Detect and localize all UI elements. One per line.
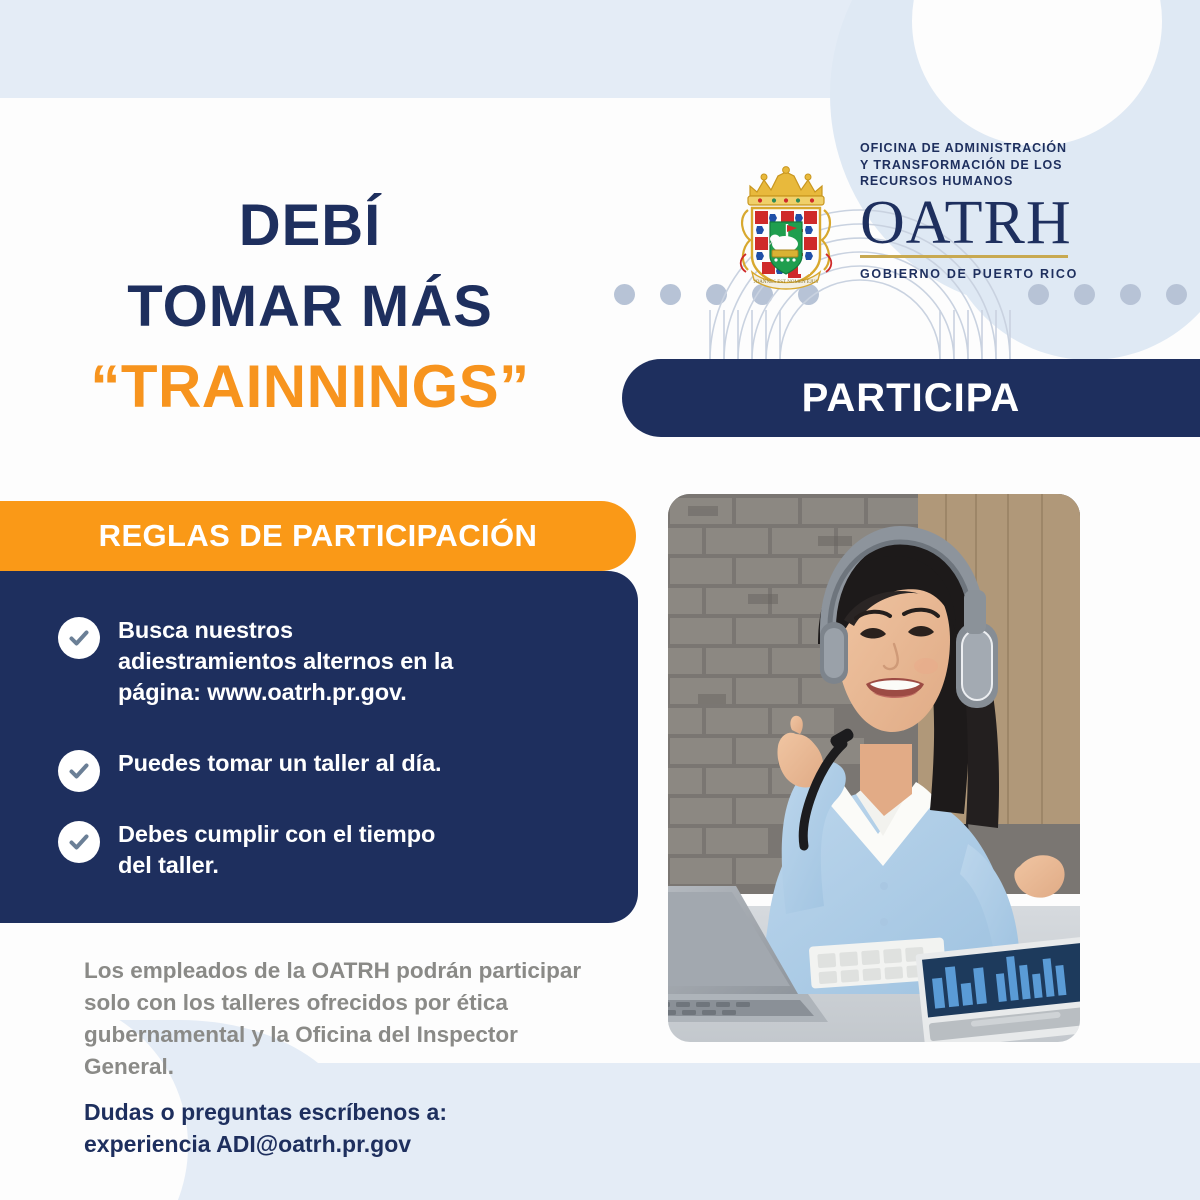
logo-subtitle: OFICINA DE ADMINISTRACIÓN Y TRANSFORMACI… xyxy=(860,140,1120,190)
check-icon xyxy=(67,830,91,854)
photo-illustration xyxy=(668,494,1080,1042)
logo-acronym: OATRH xyxy=(860,194,1120,254)
disclaimer-text: Los empleados de la OATRH podrán partici… xyxy=(84,955,644,1083)
participa-button[interactable]: PARTICIPA xyxy=(622,359,1200,437)
dot xyxy=(1166,284,1187,305)
oatrh-logo: JOANNES EST NOMEN EJUS OFICINA DE ADMINI… xyxy=(700,140,1120,330)
check-circle-icon xyxy=(58,617,100,659)
headline-line-1: DEBÍ xyxy=(0,196,620,255)
check-circle-icon xyxy=(58,821,100,863)
rule-item-text: Busca nuestros adiestramientos alternos … xyxy=(118,617,453,705)
headline-line-3: “TRAINNINGS” xyxy=(0,356,620,417)
rules-header-banner: REGLAS DE PARTICIPACIÓN xyxy=(0,501,636,571)
logo-government-label: GOBIERNO DE PUERTO RICO xyxy=(860,267,1120,281)
rule-item: Busca nuestros adiestramientos alternos … xyxy=(118,615,608,708)
rule-item: Debes cumplir con el tiempo del taller. xyxy=(118,819,608,881)
logo-text-block: OFICINA DE ADMINISTRACIÓN Y TRANSFORMACI… xyxy=(860,140,1120,281)
dot xyxy=(660,284,681,305)
headline-block: DEBÍ TOMAR MÁS “TRAINNINGS” xyxy=(0,196,620,418)
participant-photo xyxy=(668,494,1080,1042)
dot xyxy=(1120,284,1141,305)
headline-line-2: TOMAR MÁS xyxy=(0,277,620,336)
rules-panel: Busca nuestros adiestramientos alternos … xyxy=(0,571,638,923)
rule-item-text: Puedes tomar un taller al día. xyxy=(118,750,442,776)
check-circle-icon xyxy=(58,750,100,792)
contact-footer: Dudas o preguntas escríbenos a: experien… xyxy=(84,1097,704,1160)
check-icon xyxy=(67,626,91,650)
poster-canvas: DEBÍ TOMAR MÁS “TRAINNINGS” xyxy=(0,0,1200,1200)
check-icon xyxy=(67,759,91,783)
coat-of-arms-icon: JOANNES EST NOMEN EJUS xyxy=(730,162,842,294)
rule-item-text: Debes cumplir con el tiempo del taller. xyxy=(118,821,435,878)
participa-label: PARTICIPA xyxy=(802,376,1021,421)
svg-text:JOANNES EST NOMEN EJUS: JOANNES EST NOMEN EJUS xyxy=(754,280,819,285)
rule-item: Puedes tomar un taller al día. xyxy=(118,748,608,779)
rules-header-label: REGLAS DE PARTICIPACIÓN xyxy=(99,518,538,554)
